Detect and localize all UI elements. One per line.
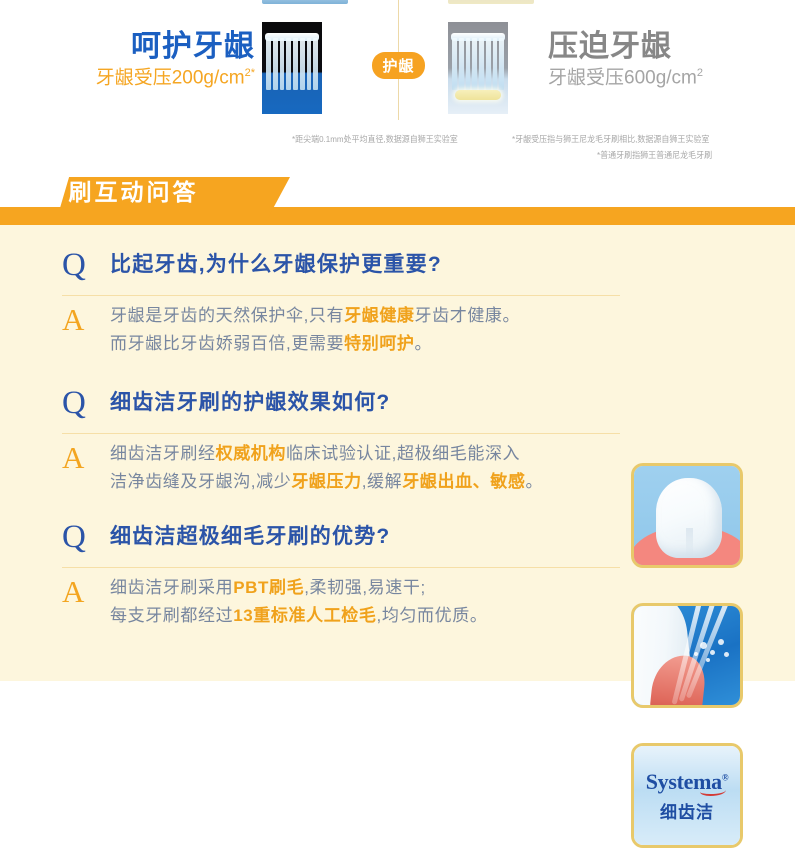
- bristle: [486, 38, 491, 90]
- qa-section: Q 比起牙齿,为什么牙龈保护更重要? A 牙龈是牙齿的天然保护伞,只有牙龈健康牙…: [0, 225, 795, 681]
- answer-run: ,缓解: [362, 472, 403, 491]
- bristle: [472, 38, 477, 90]
- a-letter: A: [62, 440, 110, 473]
- bristle: [466, 38, 471, 90]
- answer-row: A 细齿洁牙刷经权威机构临床试验认证,超极细毛能深入洁净齿缝及牙龈沟,减少牙龈压…: [62, 440, 620, 495]
- brush-photo-bad: [448, 22, 508, 114]
- answer-line: 而牙龈比牙齿娇弱百倍,更需要特别呵护。: [110, 330, 520, 358]
- footnote-1: *距尖端0.1mm处平均直径,数据源自狮王实验室: [292, 134, 458, 146]
- answer-run: ,柔韧强,易速干;: [304, 578, 426, 597]
- question-text: 细齿洁牙刷的护龈效果如何?: [110, 385, 390, 416]
- answer-text: 牙龈是牙齿的天然保护伞,只有牙龈健康牙齿才健康。而牙龈比牙齿娇弱百倍,更需要特别…: [110, 302, 520, 357]
- bristle: [499, 38, 504, 90]
- answer-line: 每支牙刷都经过13重标准人工检毛,均匀而优质。: [110, 602, 487, 630]
- right-subline: 牙龈受压600g/cm2: [548, 66, 788, 91]
- footnote-3: *普通牙刷指狮王普通尼龙毛牙刷: [597, 150, 712, 162]
- bubble: [718, 639, 724, 645]
- banner-title: 牙刷互动问答: [37, 173, 199, 207]
- answer-line: 牙龈是牙齿的天然保护伞,只有牙龈健康牙齿才健康。: [110, 302, 520, 330]
- bristles-illustration: [634, 606, 740, 705]
- left-subline-text: 牙龈受压200g/cm: [96, 67, 245, 88]
- footnote-2: *牙龈受压指与狮王尼龙毛牙刷相比,数据源自狮王实验室: [512, 134, 709, 146]
- q-letter: Q: [62, 247, 110, 282]
- answer-run: 。: [415, 334, 433, 353]
- registered-mark: ®: [722, 772, 728, 782]
- bubble: [710, 650, 715, 655]
- right-subline-sup: 2: [697, 67, 703, 79]
- answer-line: 洁净齿缝及牙龈沟,减少牙龈压力,缓解牙龈出血、敏感。: [110, 468, 543, 496]
- logo-swoosh-icon: [700, 786, 726, 796]
- qa-block: Q 细齿洁超极细毛牙刷的优势? A 细齿洁牙刷采用PBT刷毛,柔韧强,易速干;每…: [62, 519, 620, 629]
- gum-care-badge: 护龈: [372, 52, 425, 79]
- qa-thumbnail-logo: Systema® 细齿洁: [631, 743, 743, 848]
- qa-thumbnail-tooth: [631, 463, 743, 568]
- question-row: Q 细齿洁牙刷的护龈效果如何?: [62, 385, 620, 431]
- answer-text: 细齿洁牙刷经权威机构临床试验认证,超极细毛能深入洁净齿缝及牙龈沟,减少牙龈压力,…: [110, 440, 543, 495]
- section-banner: 牙刷互动问答: [0, 170, 795, 225]
- a-letter: A: [62, 574, 110, 607]
- answer-highlight: 牙龈出血、敏感: [402, 472, 525, 491]
- bristle: [459, 38, 464, 90]
- bristle: [273, 38, 278, 90]
- answer-run: ,均匀而优质。: [377, 606, 488, 625]
- qa-block: Q 比起牙齿,为什么牙龈保护更重要? A 牙龈是牙齿的天然保护伞,只有牙龈健康牙…: [62, 247, 620, 357]
- bristle: [452, 38, 457, 90]
- answer-text: 细齿洁牙刷采用PBT刷毛,柔韧强,易速干;每支牙刷都经过13重标准人工检毛,均匀…: [110, 574, 487, 629]
- comparison-section: 呵护牙龈 牙龈受压200g/cm2* 护龈: [0, 0, 795, 170]
- qa-divider: [62, 295, 620, 296]
- q-letter: Q: [62, 385, 110, 420]
- question-text: 比起牙齿,为什么牙龈保护更重要?: [110, 247, 442, 278]
- banner-tab-inner: 牙刷互动问答: [0, 170, 235, 210]
- answer-highlight: 权威机构: [216, 444, 286, 463]
- answer-run: 。: [525, 472, 543, 491]
- systema-logo: Systema® 细齿洁: [634, 746, 740, 845]
- answer-highlight: 特别呵护: [344, 334, 414, 353]
- answer-line: 细齿洁牙刷采用PBT刷毛,柔韧强,易速干;: [110, 574, 487, 602]
- tooth-shape: [656, 478, 722, 558]
- bristle-group: [452, 38, 504, 90]
- answer-run: 洁净齿缝及牙龈沟,减少: [110, 472, 291, 491]
- logo-english: Systema®: [646, 769, 729, 795]
- bubble: [700, 642, 707, 649]
- partial-image-left: [262, 0, 348, 4]
- bristle-group: [266, 38, 318, 90]
- answer-run: 牙龈是牙齿的天然保护伞,只有: [110, 306, 344, 325]
- bubble: [694, 652, 698, 656]
- answer-run: 每支牙刷都经过: [110, 606, 233, 625]
- brush-photo-good: [262, 22, 322, 114]
- bristle: [266, 38, 271, 90]
- bristle: [493, 38, 498, 90]
- comparison-left-text: 呵护牙龈 牙龈受压200g/cm2*: [30, 30, 255, 91]
- qa-divider: [62, 433, 620, 434]
- bristle: [293, 38, 298, 90]
- bristle: [313, 38, 318, 90]
- question-row: Q 细齿洁超极细毛牙刷的优势?: [62, 519, 620, 565]
- logo-chinese: 细齿洁: [660, 798, 714, 823]
- answer-run: 牙齿才健康。: [415, 306, 521, 325]
- footnotes: *距尖端0.1mm处平均直径,数据源自狮王实验室 *牙龈受压指与狮王尼龙毛牙刷相…: [0, 128, 795, 170]
- answer-run: 细齿洁牙刷采用: [110, 578, 233, 597]
- bristle: [479, 38, 484, 90]
- qa-divider: [62, 567, 620, 568]
- question-text: 细齿洁超极细毛牙刷的优势?: [110, 519, 390, 550]
- q-letter: Q: [62, 519, 110, 554]
- answer-highlight: 13重标准人工检毛: [233, 606, 376, 625]
- qa-block: Q 细齿洁牙刷的护龈效果如何? A 细齿洁牙刷经权威机构临床试验认证,超极细毛能…: [62, 385, 620, 495]
- partial-image-right: [448, 0, 534, 4]
- comparison-right-text: 压迫牙龈 牙龈受压600g/cm2: [548, 30, 788, 91]
- left-subline: 牙龈受压200g/cm2*: [30, 66, 255, 91]
- a-letter: A: [62, 302, 110, 335]
- answer-row: A 细齿洁牙刷采用PBT刷毛,柔韧强,易速干;每支牙刷都经过13重标准人工检毛,…: [62, 574, 620, 629]
- answer-highlight: PBT刷毛: [233, 578, 304, 597]
- answer-line: 细齿洁牙刷经权威机构临床试验认证,超极细毛能深入: [110, 440, 543, 468]
- answer-highlight: 牙龈健康: [344, 306, 414, 325]
- tooth-illustration: [634, 466, 740, 565]
- right-headline: 压迫牙龈: [548, 30, 788, 63]
- left-headline: 呵护牙龈: [30, 30, 255, 63]
- answer-run: 临床试验认证,超极细毛能深入: [286, 444, 520, 463]
- bristle: [307, 38, 312, 90]
- bristle: [280, 38, 285, 90]
- bristle: [300, 38, 305, 90]
- bristle: [286, 38, 291, 90]
- bubble: [706, 658, 710, 662]
- right-subline-text: 牙龈受压600g/cm: [548, 67, 697, 88]
- bubble: [724, 652, 729, 657]
- answer-run: 细齿洁牙刷经: [110, 444, 216, 463]
- answer-run: 而牙龈比牙齿娇弱百倍,更需要: [110, 334, 344, 353]
- answer-highlight: 牙龈压力: [291, 472, 361, 491]
- answer-row: A 牙龈是牙齿的天然保护伞,只有牙龈健康牙齿才健康。而牙龈比牙齿娇弱百倍,更需要…: [62, 302, 620, 357]
- left-subline-sup: 2*: [245, 67, 255, 79]
- qa-thumbnail-bristles: [631, 603, 743, 708]
- question-row: Q 比起牙齿,为什么牙龈保护更重要?: [62, 247, 620, 293]
- gum-pressure-band: [455, 90, 501, 100]
